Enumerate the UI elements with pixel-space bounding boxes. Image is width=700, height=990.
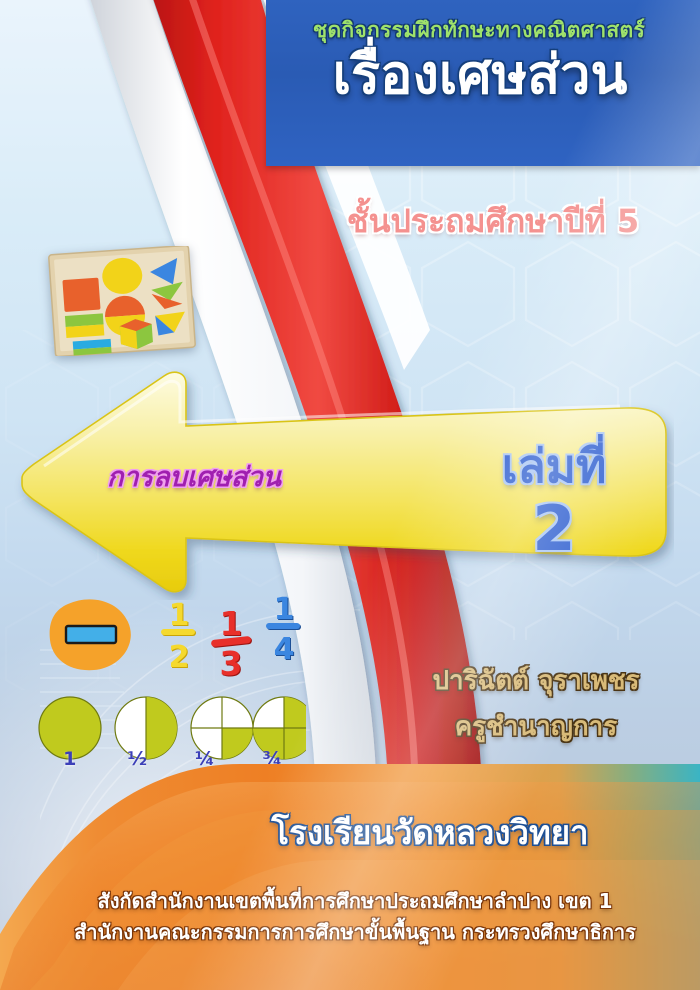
svg-text:2: 2 (169, 640, 190, 675)
arrow-topic-label: การลบเศษส่วน (64, 455, 324, 498)
fraction-one-half: 1 1 2 2 (161, 598, 196, 676)
pie-label-1: ½ (104, 748, 172, 774)
pie-label-2: ¼ (171, 748, 239, 774)
wooden-shape-puzzle-icon (48, 246, 196, 356)
fraction-one-quarter: 1 1 4 4 (266, 596, 301, 668)
grade-level-subtitle: ชั้นประถมศึกษาปีที่ 5 (300, 196, 686, 247)
svg-text:4: 4 (274, 632, 295, 667)
school-name: โรงเรียนวัดหลวงวิทยา (160, 806, 700, 859)
title-banner: ชุดกิจกรรมฝึกทักษะทางคณิตศาสตร์ เรื่องเศ… (266, 0, 700, 166)
pie-label-3: ¾ (239, 748, 307, 774)
svg-text:1: 1 (220, 604, 243, 643)
svg-text:1: 1 (221, 605, 244, 644)
minus-sign-icon (40, 596, 144, 674)
svg-text:3: 3 (221, 645, 244, 678)
fraction-one-third: 1 1 3 3 (211, 604, 253, 678)
svg-text:1: 1 (169, 598, 190, 633)
footer-banner (0, 764, 700, 990)
svg-text:2: 2 (170, 641, 191, 676)
affiliation-line-2: สำนักงานคณะกรรมการการศึกษาขั้นพื้นฐาน กร… (10, 917, 700, 948)
svg-text:3: 3 (220, 644, 243, 678)
page-title: เรื่องเศษส่วน (266, 46, 694, 104)
author-position: ครูชำนาญการ (386, 709, 686, 746)
svg-text:4: 4 (275, 633, 296, 668)
author-name: ปาริฉัตต์ จุราเพชร (386, 663, 686, 700)
pie-circle-labels: 1 ½ ¼ ¾ (36, 748, 306, 774)
svg-text:1: 1 (274, 596, 295, 627)
book-cover: ชุดกิจกรรมฝึกทักษะทางคณิตศาสตร์ เรื่องเศ… (0, 0, 700, 990)
pie-label-0: 1 (36, 748, 104, 774)
affiliation-line-1: สังกัดสำนักงานเขตพื้นที่การศึกษาประถมศึก… (10, 886, 700, 917)
volume-number: 2 (436, 498, 672, 560)
svg-text:1: 1 (170, 599, 191, 634)
fraction-symbols-group: 1 1 2 2 1 1 3 3 1 1 4 (150, 596, 330, 678)
svg-text:1: 1 (275, 596, 296, 628)
